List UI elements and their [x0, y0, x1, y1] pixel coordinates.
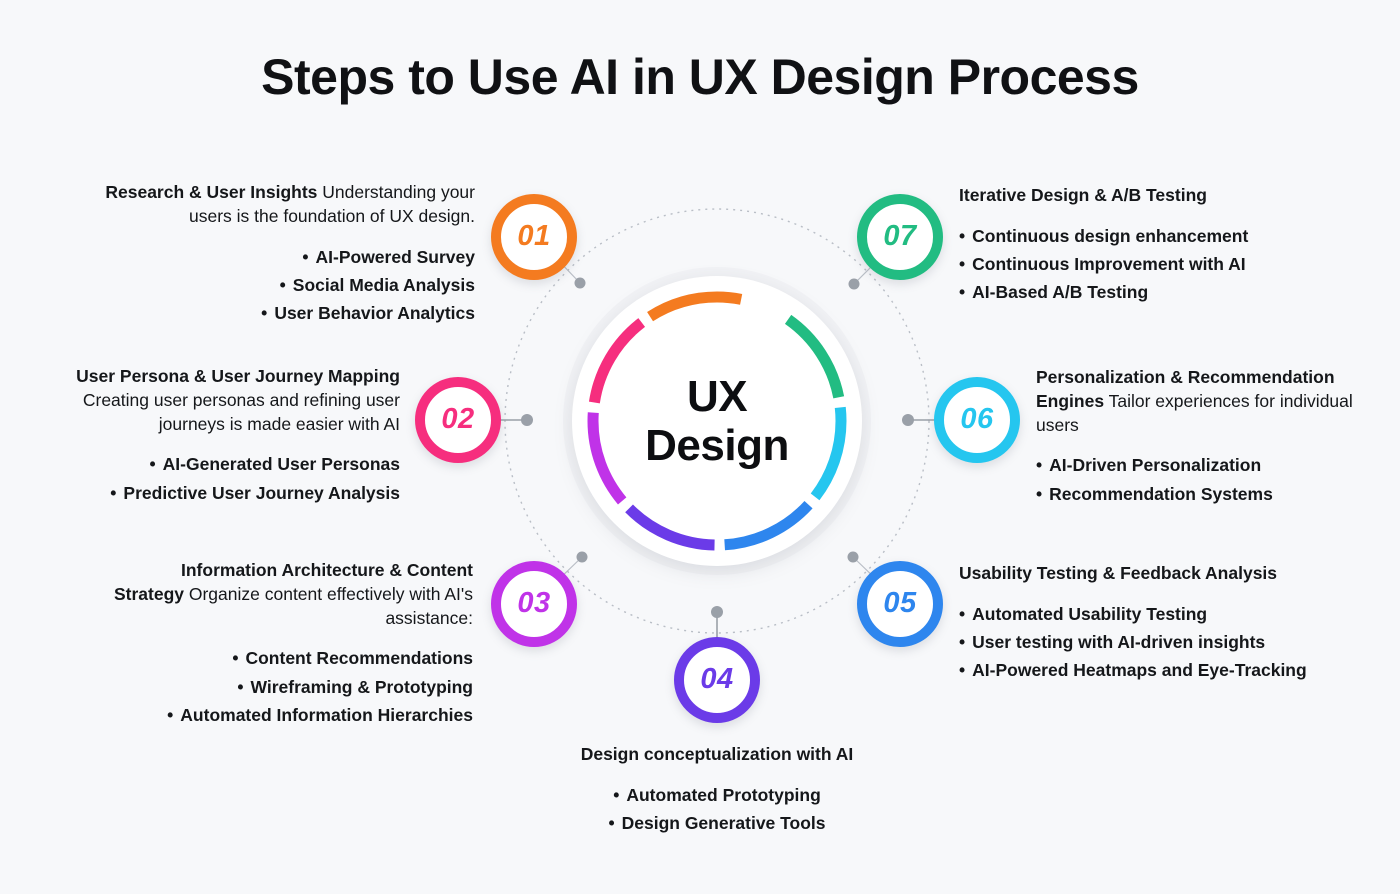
step-05-heading-bold: Usability Testing & Feedback Analysis	[959, 563, 1277, 583]
hub-label-line2: Design	[645, 421, 789, 470]
center-hub: UX Design	[572, 276, 862, 566]
step-badge-03-label: 03	[517, 587, 550, 620]
step-badge-06-label: 06	[960, 403, 993, 436]
list-item: AI-Generated User Personas	[35, 450, 400, 478]
step-05-bullets: Automated Usability Testing User testing…	[959, 600, 1339, 685]
step-text-03: Information Architecture & Content Strat…	[110, 559, 473, 729]
step-badge-05[interactable]: 05	[857, 561, 943, 647]
step-text-04: Design conceptualization with AI Automat…	[527, 743, 907, 837]
list-item: User testing with AI-driven insights	[959, 628, 1339, 656]
step-badge-04[interactable]: 04	[674, 637, 760, 723]
list-item: Automated Prototyping	[527, 781, 907, 809]
list-item: AI-Powered Survey	[105, 243, 475, 271]
list-item: AI-Powered Heatmaps and Eye-Tracking	[959, 656, 1339, 684]
list-item: User Behavior Analytics	[105, 299, 475, 327]
step-03-heading: Information Architecture & Content Strat…	[110, 559, 473, 630]
step-text-02: User Persona & User Journey Mapping Crea…	[35, 365, 400, 507]
hub-label-line1: UX	[687, 372, 747, 421]
step-04-heading-bold: Design conceptualization with AI	[581, 744, 854, 764]
step-badge-02-label: 02	[441, 403, 474, 436]
step-badge-07-label: 07	[883, 220, 916, 253]
list-item: Automated Information Hierarchies	[110, 701, 473, 729]
step-text-07: Iterative Design & A/B Testing Continuou…	[959, 184, 1339, 307]
step-02-heading-rest: Creating user personas and refining user…	[83, 390, 400, 434]
step-03-heading-rest: Organize content effectively with AI's a…	[184, 584, 473, 628]
step-01-heading: Research & User Insights Understanding y…	[105, 181, 475, 229]
list-item: Continuous Improvement with AI	[959, 250, 1339, 278]
list-item: Recommendation Systems	[1036, 480, 1356, 508]
step-badge-01[interactable]: 01	[491, 194, 577, 280]
step-02-bullets: AI-Generated User Personas Predictive Us…	[35, 450, 400, 507]
hub-label: UX Design	[572, 276, 862, 566]
step-badge-01-label: 01	[517, 220, 550, 253]
step-03-bullets: Content Recommendations Wireframing & Pr…	[110, 644, 473, 729]
step-06-heading: Personalization & Recommendation Engines…	[1036, 366, 1356, 437]
list-item: Content Recommendations	[110, 644, 473, 672]
step-text-05: Usability Testing & Feedback Analysis Au…	[959, 562, 1339, 685]
step-02-heading: User Persona & User Journey Mapping Crea…	[35, 365, 400, 436]
step-04-bullets: Automated Prototyping Design Generative …	[527, 781, 907, 838]
orbit-node-04	[711, 606, 723, 618]
step-badge-03[interactable]: 03	[491, 561, 577, 647]
step-01-bullets: AI-Powered Survey Social Media Analysis …	[105, 243, 475, 328]
step-05-heading: Usability Testing & Feedback Analysis	[959, 562, 1339, 586]
step-07-heading: Iterative Design & A/B Testing	[959, 184, 1339, 208]
list-item: Social Media Analysis	[105, 271, 475, 299]
step-text-06: Personalization & Recommendation Engines…	[1036, 366, 1356, 508]
list-item: Wireframing & Prototyping	[110, 673, 473, 701]
list-item: AI-Based A/B Testing	[959, 278, 1339, 306]
step-badge-05-label: 05	[883, 587, 916, 620]
orbit-node-02	[521, 414, 533, 426]
step-07-bullets: Continuous design enhancement Continuous…	[959, 222, 1339, 307]
step-02-heading-bold: User Persona & User Journey Mapping	[76, 366, 400, 386]
list-item: Continuous design enhancement	[959, 222, 1339, 250]
step-04-heading: Design conceptualization with AI	[527, 743, 907, 767]
step-07-heading-bold: Iterative Design & A/B Testing	[959, 185, 1207, 205]
step-01-heading-bold: Research & User Insights	[105, 182, 317, 202]
step-badge-06[interactable]: 06	[934, 377, 1020, 463]
list-item: Automated Usability Testing	[959, 600, 1339, 628]
list-item: AI-Driven Personalization	[1036, 451, 1356, 479]
orbit-node-06	[902, 414, 914, 426]
step-badge-02[interactable]: 02	[415, 377, 501, 463]
step-badge-04-label: 04	[700, 663, 733, 696]
list-item: Predictive User Journey Analysis	[35, 479, 400, 507]
list-item: Design Generative Tools	[527, 809, 907, 837]
step-badge-07[interactable]: 07	[857, 194, 943, 280]
step-06-bullets: AI-Driven Personalization Recommendation…	[1036, 451, 1356, 508]
step-text-01: Research & User Insights Understanding y…	[105, 181, 475, 328]
